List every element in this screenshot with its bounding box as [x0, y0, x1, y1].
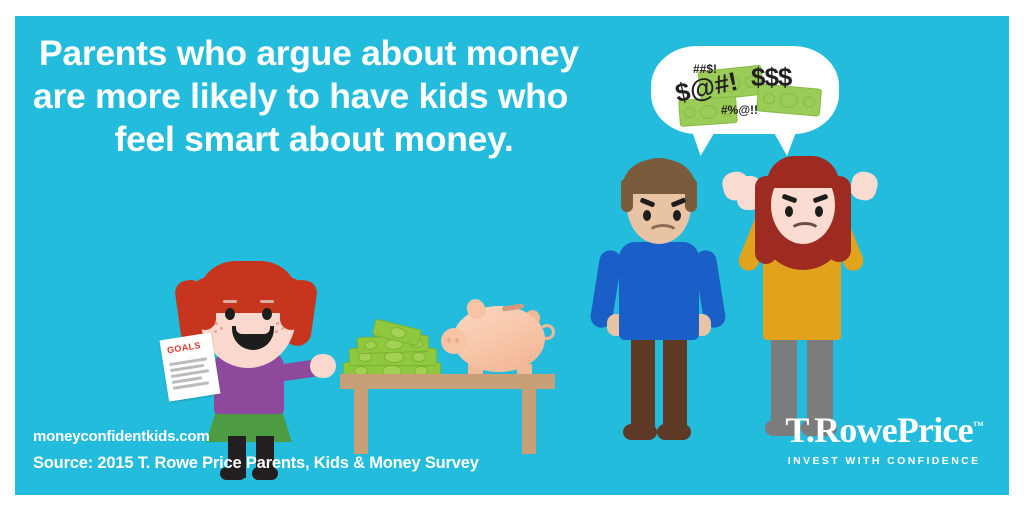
table-top: [340, 374, 555, 389]
logo-tagline: INVEST WITH CONFIDENCE: [785, 455, 983, 467]
father-leg-right: [663, 334, 687, 432]
girl-hair-side-right: [280, 278, 302, 330]
footer: moneyconfidentkids.com Source: 2015 T. R…: [33, 428, 479, 473]
bill-oval: [700, 104, 718, 119]
infographic-canvas: Parents who argue about money are more l…: [0, 0, 1024, 512]
girl-eyebrow-right: [260, 300, 274, 303]
source-citation: Source: 2015 T. Rowe Price Parents, Kids…: [33, 454, 479, 473]
father-shoe-right: [657, 424, 691, 440]
girl-freckle: [281, 327, 284, 330]
bill-oval: [364, 341, 377, 350]
logo-name-text: T.RowePrice: [785, 410, 972, 450]
girl-eye-left: [225, 308, 235, 320]
teal-panel: Parents who argue about money are more l…: [15, 16, 1009, 495]
curse-symbol-4: #%@!!: [721, 104, 758, 116]
mother-frown-mouth: [789, 222, 821, 242]
mother-eye-left: [785, 206, 793, 217]
mother-hand-right: [848, 169, 880, 202]
girl-eyebrow-left: [223, 300, 237, 303]
t-rowe-price-logo: T.RowePrice™ INVEST WITH CONFIDENCE: [785, 412, 983, 467]
piggy-nostril: [455, 338, 459, 343]
father-eye-right: [673, 210, 681, 221]
logo-wordmark: T.RowePrice™: [785, 412, 983, 448]
goals-paper-title: GOALS: [166, 340, 201, 355]
speech-bubble: ##$! $@#! $$$ #%@!!: [651, 46, 839, 146]
bill-oval: [763, 93, 776, 105]
bill-oval: [389, 325, 407, 340]
bill-oval: [684, 107, 696, 119]
goals-paper: GOALS: [159, 332, 220, 401]
mother-hand-left: [720, 169, 752, 202]
mother-hair-top: [767, 156, 839, 188]
page-title: Parents who argue about money are more l…: [33, 32, 633, 161]
girl-eye-right: [262, 308, 272, 320]
angry-father-character: [593, 158, 723, 453]
girl-hand-right: [310, 354, 336, 378]
father-hair-side-right: [685, 178, 697, 212]
headline-line-2: are more likely to have kids who: [33, 75, 633, 118]
bill-oval: [802, 96, 815, 108]
bill-oval: [412, 352, 426, 362]
piggy-nostril: [447, 338, 451, 343]
headline-line-3: feel smart about money.: [33, 118, 633, 161]
piggy-bank: [441, 298, 549, 376]
father-sweater: [619, 242, 699, 340]
girl-upper-lip: [236, 326, 270, 334]
girl-hair-side-left: [194, 278, 216, 330]
father-shoe-left: [623, 424, 657, 440]
smiling-girl-character: GOALS: [170, 264, 360, 449]
girl-freckle: [214, 330, 217, 333]
speech-bubble-body: ##$! $@#! $$$ #%@!!: [651, 46, 839, 134]
website-url[interactable]: moneyconfidentkids.com: [33, 428, 479, 445]
girl-freckle: [275, 330, 278, 333]
money-stack: [343, 328, 443, 378]
piggy-snout: [441, 328, 467, 354]
curse-symbol-3: $$$: [751, 64, 791, 90]
trademark-symbol: ™: [973, 420, 983, 432]
father-eye-left: [643, 210, 651, 221]
headline-line-1: Parents who argue about money: [33, 32, 633, 75]
father-frown-mouth: [647, 224, 679, 244]
angry-mother-character: [727, 154, 877, 454]
father-leg-left: [631, 334, 655, 432]
mother-eye-right: [815, 206, 823, 217]
table-leg-right: [522, 389, 536, 454]
girl-freckle: [220, 327, 223, 330]
father-hair-side-left: [621, 178, 633, 212]
girl-freckle: [276, 322, 279, 325]
bill-oval: [779, 92, 798, 109]
girl-freckle: [215, 322, 218, 325]
